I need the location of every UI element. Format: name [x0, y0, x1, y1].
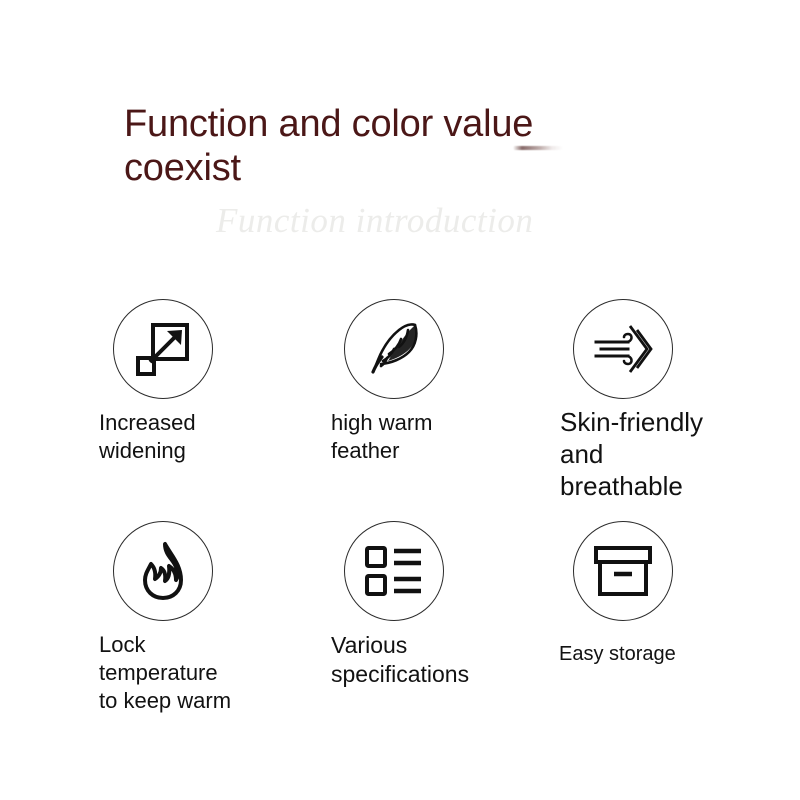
- feature-icon-circle: [113, 521, 213, 621]
- title-underline-mark: [513, 146, 563, 150]
- header-section: Function and color value coexist Functio…: [0, 0, 800, 270]
- feature-label: Increased widening: [99, 409, 196, 465]
- feature-label: Easy storage: [559, 641, 676, 667]
- list-specifications-icon: [365, 545, 423, 597]
- feature-label: Various specifications: [331, 631, 469, 689]
- expand-arrow-icon: [134, 320, 192, 378]
- feature-icon-circle: [344, 299, 444, 399]
- airflow-breathable-icon: [592, 318, 654, 380]
- feature-icon-circle: [113, 299, 213, 399]
- feature-label: Lock temperature to keep warm: [99, 631, 231, 715]
- storage-box-icon: [594, 545, 652, 597]
- feature-icon-circle: [344, 521, 444, 621]
- feature-icon-circle: [573, 521, 673, 621]
- page-subtitle: Function introduction: [216, 199, 533, 243]
- flame-icon: [135, 541, 191, 601]
- feature-icon-circle: [573, 299, 673, 399]
- feature-label: Skin-friendly and breathable: [560, 406, 703, 502]
- feature-label: high warm feather: [331, 409, 432, 465]
- feather-icon: [363, 318, 425, 380]
